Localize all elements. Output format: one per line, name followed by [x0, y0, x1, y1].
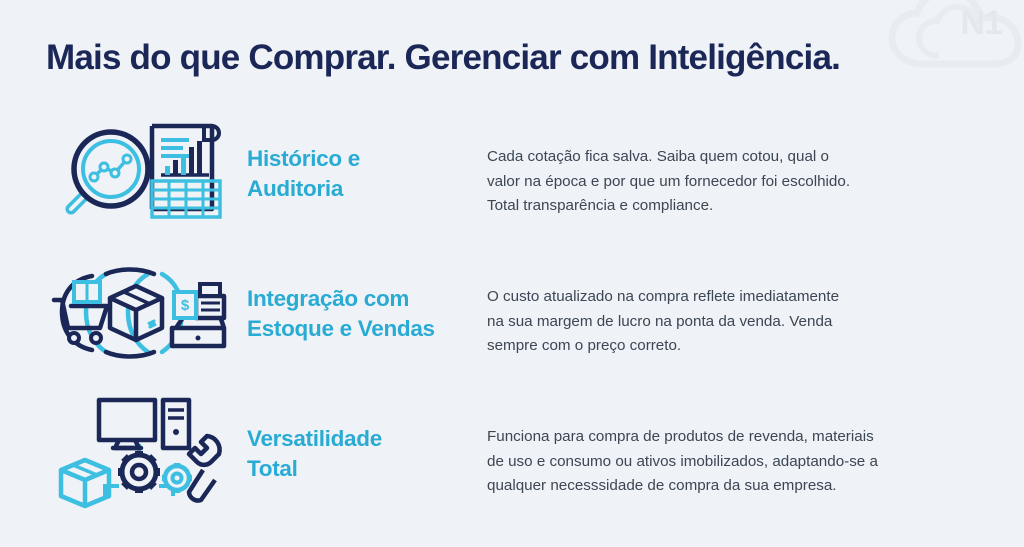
svg-text:$: $ — [181, 297, 190, 314]
feature-row: Histórico e Auditoria Cada cotação fica … — [0, 112, 1024, 252]
feature-description: O custo atualizado na compra reflete ime… — [487, 285, 957, 359]
page-title: Mais do que Comprar. Gerenciar com Intel… — [46, 38, 840, 78]
feature-heading-line1: Histórico e — [247, 144, 482, 174]
feature-description-line3: qualquer necesssidade de compra da sua e… — [487, 474, 957, 499]
feature-heading-line2: Total — [247, 454, 482, 484]
feature-heading-line1: Integração com — [247, 284, 482, 314]
feature-heading: Integração com Estoque e Vendas — [247, 284, 482, 344]
feature-heading: Versatilidade Total — [247, 424, 482, 484]
feature-list: Histórico e Auditoria Cada cotação fica … — [0, 112, 1024, 532]
feature-description: Funciona para compra de produtos de reve… — [487, 425, 957, 499]
feature-heading: Histórico e Auditoria — [247, 144, 482, 204]
feature-description: Cada cotação fica salva. Saiba quem coto… — [487, 145, 957, 219]
feature-heading-line2: Estoque e Vendas — [247, 314, 482, 344]
feature-description-line3: Total transparência e compliance. — [487, 194, 957, 219]
feature-description-line1: O custo atualizado na compra reflete ime… — [487, 285, 957, 310]
watermark-label: N1 — [961, 6, 1002, 40]
feature-heading-line1: Versatilidade — [247, 424, 482, 454]
feature-row: Versatilidade Total Funciona para compra… — [0, 392, 1024, 532]
feature-description-line2: de uso e consumo ou ativos imobilizados,… — [487, 450, 957, 475]
feature-description-line2: valor na época e por que um fornecedor f… — [487, 170, 957, 195]
cloud-watermark — [884, 0, 1024, 72]
cart-box-cash-register-icon: $ — [44, 252, 234, 372]
feature-description-line1: Cada cotação fica salva. Saiba quem coto… — [487, 145, 957, 170]
magnifier-chart-report-icon — [44, 112, 234, 232]
feature-description-line1: Funciona para compra de produtos de reve… — [487, 425, 957, 450]
feature-description-line3: sempre com o preço correto. — [487, 334, 957, 359]
feature-description-line2: na sua margem de lucro na ponta da venda… — [487, 310, 957, 335]
feature-heading-line2: Auditoria — [247, 174, 482, 204]
feature-row: $ Integração com Estoque e Vendas O cust… — [0, 252, 1024, 392]
computer-gear-wrench-box-icon — [44, 392, 234, 512]
